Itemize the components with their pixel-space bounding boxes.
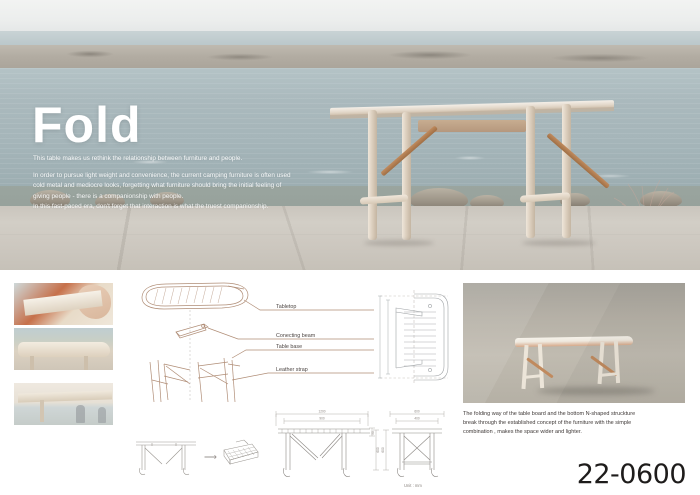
leather-strap [546,133,610,189]
hand [77,285,111,319]
hero-lead-text: This table makes us rethink the relation… [33,154,363,163]
photo-underside [14,383,113,425]
foot-rail [599,372,619,377]
table-leg [521,345,528,389]
summary-line: break through the established concept of… [463,419,689,428]
table-leg [40,400,44,422]
svg-text:900: 900 [319,417,325,421]
table-shadow [364,240,434,246]
table-top [18,342,110,357]
table-shadow [537,387,655,395]
hero-body-text: In order to pursue light weight and conv… [33,171,351,213]
arrow-icon: ⟶ [204,452,217,463]
svg-text:600: 600 [381,447,385,453]
leather-strap [526,357,554,378]
lower-section: Tabletop Conecting beam Table base Leath… [0,270,700,495]
svg-text:600: 600 [376,447,380,453]
table-leg [562,104,571,238]
table-leg [30,356,34,370]
person [98,407,106,423]
callout-tabletop: Tabletop [276,304,296,310]
svg-text:600: 600 [414,410,420,414]
hero-paragraph-line: giving people - there is a companionship… [33,192,351,202]
hero-paragraph-line: In this fast-paced era, don't forget tha… [33,202,351,212]
table-leg [84,356,88,370]
exploded-assembly-diagram: Tabletop Conecting beam Table base Leath… [128,280,374,402]
hero-photo: Fold This table makes us rethink the rel… [0,0,700,270]
callout-leather-strap: Leather strap [276,367,308,373]
hero-paragraph-line: cold metal and mediocre looks, forgettin… [33,181,351,191]
photo-hand-detail [14,283,113,325]
dimension-drawings: 1200 900 600 400 50 600 600 [272,408,452,482]
table-leg [598,342,605,384]
table-top [515,336,633,347]
table-leg [526,106,535,238]
presentation-board: Fold This table makes us rethink the rel… [0,0,700,495]
foot-rail [523,374,543,379]
table-leg [614,341,620,383]
svg-text:400: 400 [414,417,420,421]
table-shadow [522,240,596,246]
fold-sequence-diagram: ⟶ [132,430,258,480]
section-drawing [370,282,462,392]
page-title: Fold [32,100,142,150]
table-leg [538,344,544,388]
table-top [18,390,112,402]
photo-table-on-beach [463,283,685,403]
callout-conecting-beam: Conecting beam [276,333,315,339]
svg-text:1200: 1200 [318,410,325,414]
sky [0,0,700,33]
person [76,405,85,423]
photo-tabletop-corner [14,328,113,370]
table-leg [402,112,411,240]
summary-line: The folding way of the table board and t… [463,410,689,419]
leather-strap [590,355,618,376]
entry-number: 22-0600 [577,459,686,490]
table-leg [368,110,377,240]
summary-text: The folding way of the table board and t… [463,410,689,437]
hero-paragraph-line: In order to pursue light weight and conv… [33,171,351,181]
svg-text:50: 50 [371,431,375,435]
unit-note: Unit : mm [404,483,422,488]
callout-table-base: Table base [276,344,302,350]
hero-table [330,100,620,245]
summary-line: combination , makes the space wider and … [463,428,689,437]
